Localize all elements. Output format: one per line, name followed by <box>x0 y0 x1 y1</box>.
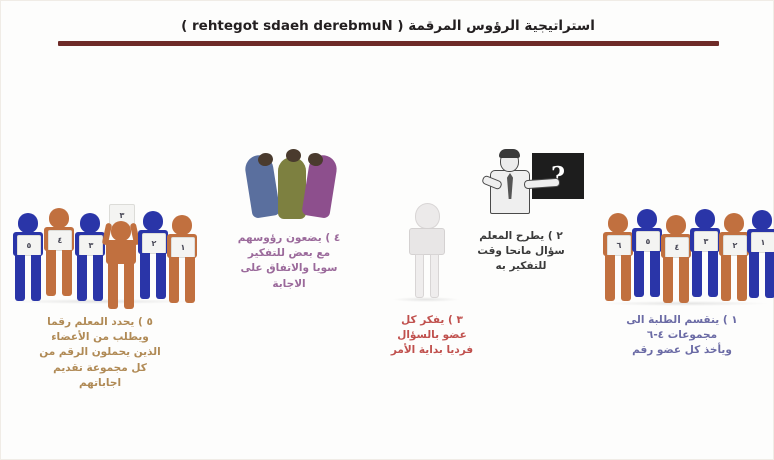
student-figure-raising-card: ٣ <box>104 221 138 309</box>
slide-title-area: استراتيجية الرؤوس المرقمة ( Numbered hea… <box>1 15 774 34</box>
student-figure: ٣ <box>73 213 107 301</box>
illustration-heads-together <box>246 143 342 219</box>
number-card: ١ <box>171 237 195 258</box>
step-5-caption: ٥ ) يحدد المعلم رقماويطلب من الأعضاءالذي… <box>9 315 191 391</box>
student-head <box>49 208 69 228</box>
step-3-caption-line: ٣ ) يفكر كل <box>373 313 491 328</box>
step-2-caption-line: سؤال مانحا وقت <box>456 244 586 259</box>
student-head <box>752 210 772 230</box>
student-head <box>608 213 628 233</box>
illustration-single-student <box>393 201 463 305</box>
step-4-caption-line: ٤ ) يضعون رؤوسهم <box>223 231 355 246</box>
number-card: ٢ <box>142 233 166 254</box>
student-leg-right <box>124 263 134 309</box>
illustration-teacher-blackboard: ? <box>476 149 584 221</box>
step-5-caption-line: اجاباتهم <box>9 376 191 391</box>
student-leg-left <box>77 255 87 301</box>
student-leg-left <box>605 255 615 301</box>
step-5-caption-line: الذين يحملون الرقم من <box>9 345 191 360</box>
student-figure: ١ <box>745 210 774 298</box>
student-head <box>415 203 440 229</box>
step-5-caption-line: ويطلب من الأعضاء <box>9 330 191 345</box>
ground-shadow-single <box>393 297 459 302</box>
step-3-caption-line: عضو بالسؤال <box>373 328 491 343</box>
step-5-caption-line: ٥ ) يحدد المعلم رقما <box>9 315 191 330</box>
number-card: ٣ <box>694 231 718 252</box>
student-torso <box>409 228 445 255</box>
step-1-caption-line: مجموعات ٤-٦ <box>593 328 771 343</box>
step-4-caption-line: سويا والاتفاق على <box>223 261 355 276</box>
student-torso <box>106 240 136 264</box>
lone-student-figure <box>407 203 447 297</box>
step-4-caption: ٤ ) يضعون رؤوسهممع بعض للتفكيرسويا والات… <box>223 231 355 292</box>
step-1-caption: ١ ) ينقسم الطلبة الىمجموعات ٤-٦ويأخذ كل … <box>593 313 771 359</box>
student-leg-right <box>93 255 103 301</box>
student-head <box>724 213 744 233</box>
student-leg-right <box>31 255 41 301</box>
number-card: ١ <box>751 232 774 253</box>
student-head <box>80 213 100 233</box>
student-leg-right <box>62 250 72 296</box>
student-leg-right <box>185 257 195 303</box>
step-3-caption-line: فرديا بداية الأمر <box>373 343 491 358</box>
step-4-caption-line: الاجابة <box>223 277 355 292</box>
student-leg-left <box>663 257 673 303</box>
step-3-caption: ٣ ) يفكر كلعضو بالسؤالفرديا بداية الأمر <box>373 313 491 359</box>
title-underline-rule <box>58 41 719 46</box>
number-card: ٥ <box>17 235 41 256</box>
student-leg-left <box>692 251 702 297</box>
number-card: ٣ <box>79 235 103 256</box>
student-leg-left <box>415 254 424 298</box>
student-leg-left <box>721 255 731 301</box>
huddle-person-head <box>286 149 301 162</box>
student-leg-left <box>15 255 25 301</box>
step-2-caption-line: ٢ ) يطرح المعلم <box>456 229 586 244</box>
teacher-hair <box>499 149 520 158</box>
student-leg-left <box>140 253 150 299</box>
step-4-caption-line: مع بعض للتفكير <box>223 246 355 261</box>
number-card: ٦ <box>607 235 631 256</box>
student-leg-left <box>169 257 179 303</box>
illustration-students-row-right: ٦ ٥ ٤ ٣ ٢ <box>599 207 771 307</box>
student-head <box>172 215 192 235</box>
slide-canvas: استراتيجية الرؤوس المرقمة ( Numbered hea… <box>0 0 774 460</box>
student-leg-left <box>634 251 644 297</box>
number-card: ٢ <box>723 235 747 256</box>
student-figure: ٥ <box>11 213 45 301</box>
student-head <box>111 221 131 241</box>
step-2-caption-line: للتفكير به <box>456 259 586 274</box>
step-2-caption: ٢ ) يطرح المعلمسؤال مانحا وقتللتفكير به <box>456 229 586 275</box>
page-title: استراتيجية الرؤوس المرقمة ( Numbered hea… <box>181 18 595 34</box>
student-leg-left <box>108 263 118 309</box>
student-head <box>637 209 657 229</box>
student-leg-right <box>430 254 439 298</box>
student-head <box>18 213 38 233</box>
student-leg-right <box>765 252 774 298</box>
number-card: ٤ <box>665 237 689 258</box>
student-head <box>695 209 715 229</box>
step-1-caption-line: ١ ) ينقسم الطلبة الى <box>593 313 771 328</box>
illustration-students-row-left: ٥ ٤ ٣ ٣ <box>7 199 197 307</box>
student-head <box>143 211 163 231</box>
number-card: ٥ <box>636 231 660 252</box>
student-figure: ١ <box>165 215 199 303</box>
step-5-caption-line: كل مجموعة تقديم <box>9 361 191 376</box>
blackboard: ? <box>532 153 584 199</box>
student-head <box>666 215 686 235</box>
student-leg-left <box>749 252 759 298</box>
student-leg-left <box>46 250 56 296</box>
student-figure: ٤ <box>42 208 76 296</box>
number-card: ٤ <box>48 230 72 251</box>
step-1-caption-line: ويأخذ كل عضو رقم <box>593 343 771 358</box>
